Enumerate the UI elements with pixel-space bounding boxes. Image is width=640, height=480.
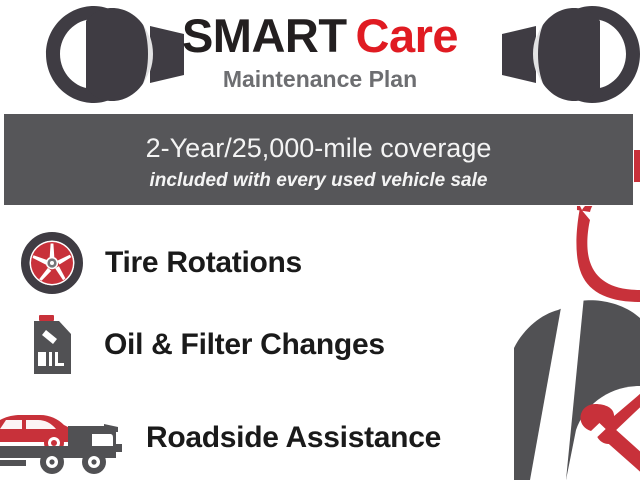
- header: SMARTCare Maintenance Plan: [0, 0, 640, 112]
- feature-label: Oil & Filter Changes: [104, 328, 385, 362]
- banner-subtitle: included with every used vehicle sale: [4, 165, 633, 194]
- truck-window: [92, 434, 113, 446]
- feature-item: Oil & Filter Changes: [26, 314, 385, 376]
- brand-block: SMARTCare Maintenance Plan: [0, 8, 640, 94]
- coverage-banner: 2-Year/25,000-mile coverage included wit…: [3, 113, 634, 206]
- banner-title: 2-Year/25,000-mile coverage: [4, 114, 633, 165]
- oil-jug-cap: [39, 315, 54, 321]
- brand-title: SMARTCare: [0, 8, 640, 64]
- tow-truck-icon: [0, 398, 124, 478]
- oil-jug-body: [34, 321, 71, 374]
- brand-name-care: Care: [356, 9, 459, 62]
- feature-label: Roadside Assistance: [146, 421, 441, 455]
- brand-subtitle: Maintenance Plan: [0, 64, 640, 94]
- feature-item: Tire Rotations: [21, 232, 302, 294]
- oil-jug-icon: [26, 314, 76, 376]
- feature-label: Tire Rotations: [105, 246, 302, 280]
- brand-name-smart: SMART: [182, 9, 347, 62]
- smart-care-poster: SMARTCare Maintenance Plan 2-Year/25,000…: [0, 0, 640, 480]
- tire-icon: [21, 232, 83, 294]
- feature-item: Roadside Assistance: [0, 398, 441, 478]
